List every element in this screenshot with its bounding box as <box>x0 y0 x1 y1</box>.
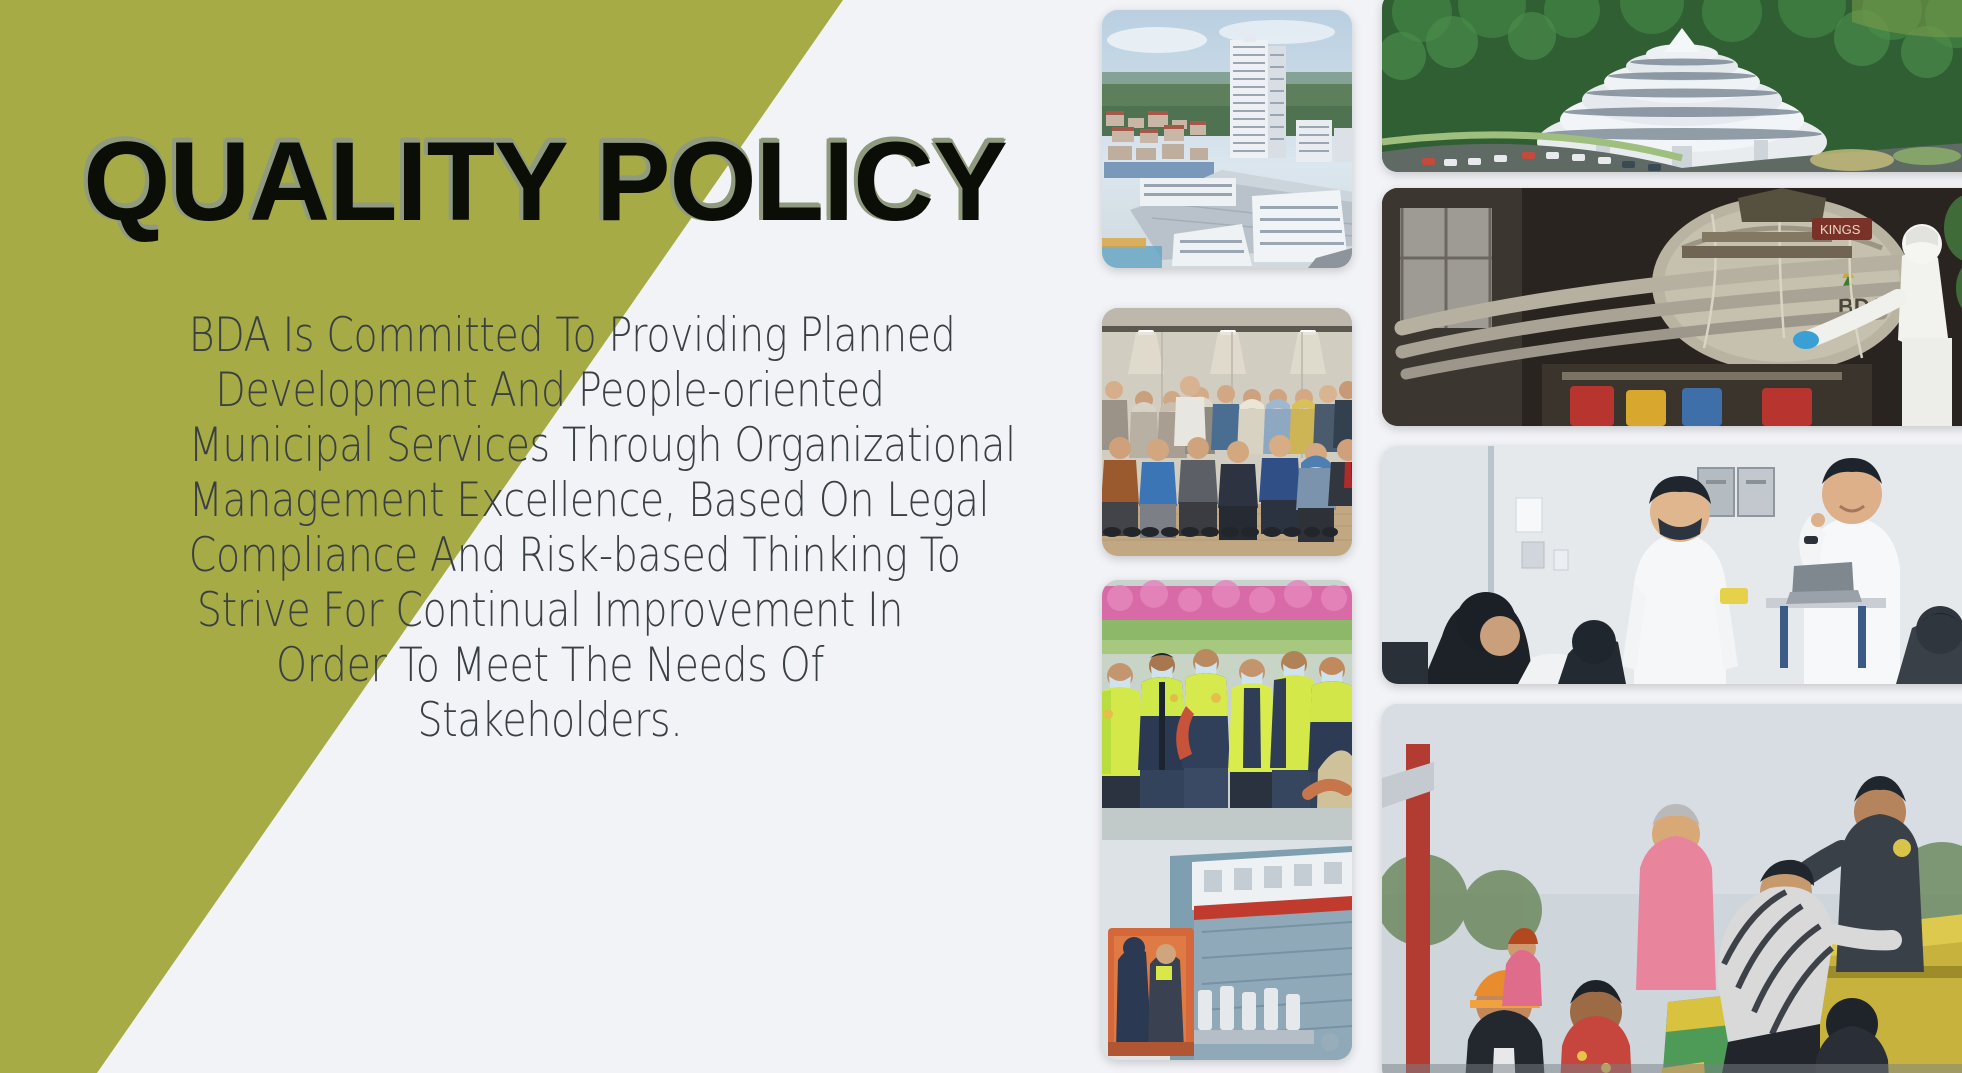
page-title: QUALITY POLICY <box>0 126 1090 238</box>
photo-collage: BDA KING <box>1094 0 1962 1073</box>
official-group-photo <box>1102 308 1352 556</box>
bda-sanitation-truck-photo: BDA KING <box>1382 188 1962 426</box>
policy-line: Compliance And Risk-based Thinking To <box>189 528 911 583</box>
quality-policy-slide: QUALITY POLICY BDA Is Committed To Provi… <box>0 0 1962 1073</box>
policy-line: BDA Is Committed To Providing Planned <box>189 308 911 363</box>
policy-statement: BDA Is Committed To Providing Planned De… <box>189 308 911 748</box>
text-column: QUALITY POLICY BDA Is Committed To Provi… <box>0 0 1090 1073</box>
policy-line: Order To Meet The Needs Of <box>189 638 911 693</box>
aerial-city-development-photo <box>1102 10 1352 268</box>
policy-line: Municipal Services Through Organizationa… <box>189 418 911 473</box>
computer-lab-students-photo <box>1382 446 1962 684</box>
policy-line: Strive For Continual Improvement In <box>189 583 911 638</box>
svg-text:KINGS: KINGS <box>1820 222 1861 237</box>
safety-vest-team-briefing-photo <box>1102 580 1352 1060</box>
community-outreach-truck-photo <box>1382 704 1962 1073</box>
policy-line: Management Excellence, Based On Legal <box>189 473 911 528</box>
policy-line: Development And People-oriented <box>189 363 911 418</box>
conical-landmark-building-photo <box>1382 0 1962 172</box>
policy-line: Stakeholders. <box>189 693 911 748</box>
